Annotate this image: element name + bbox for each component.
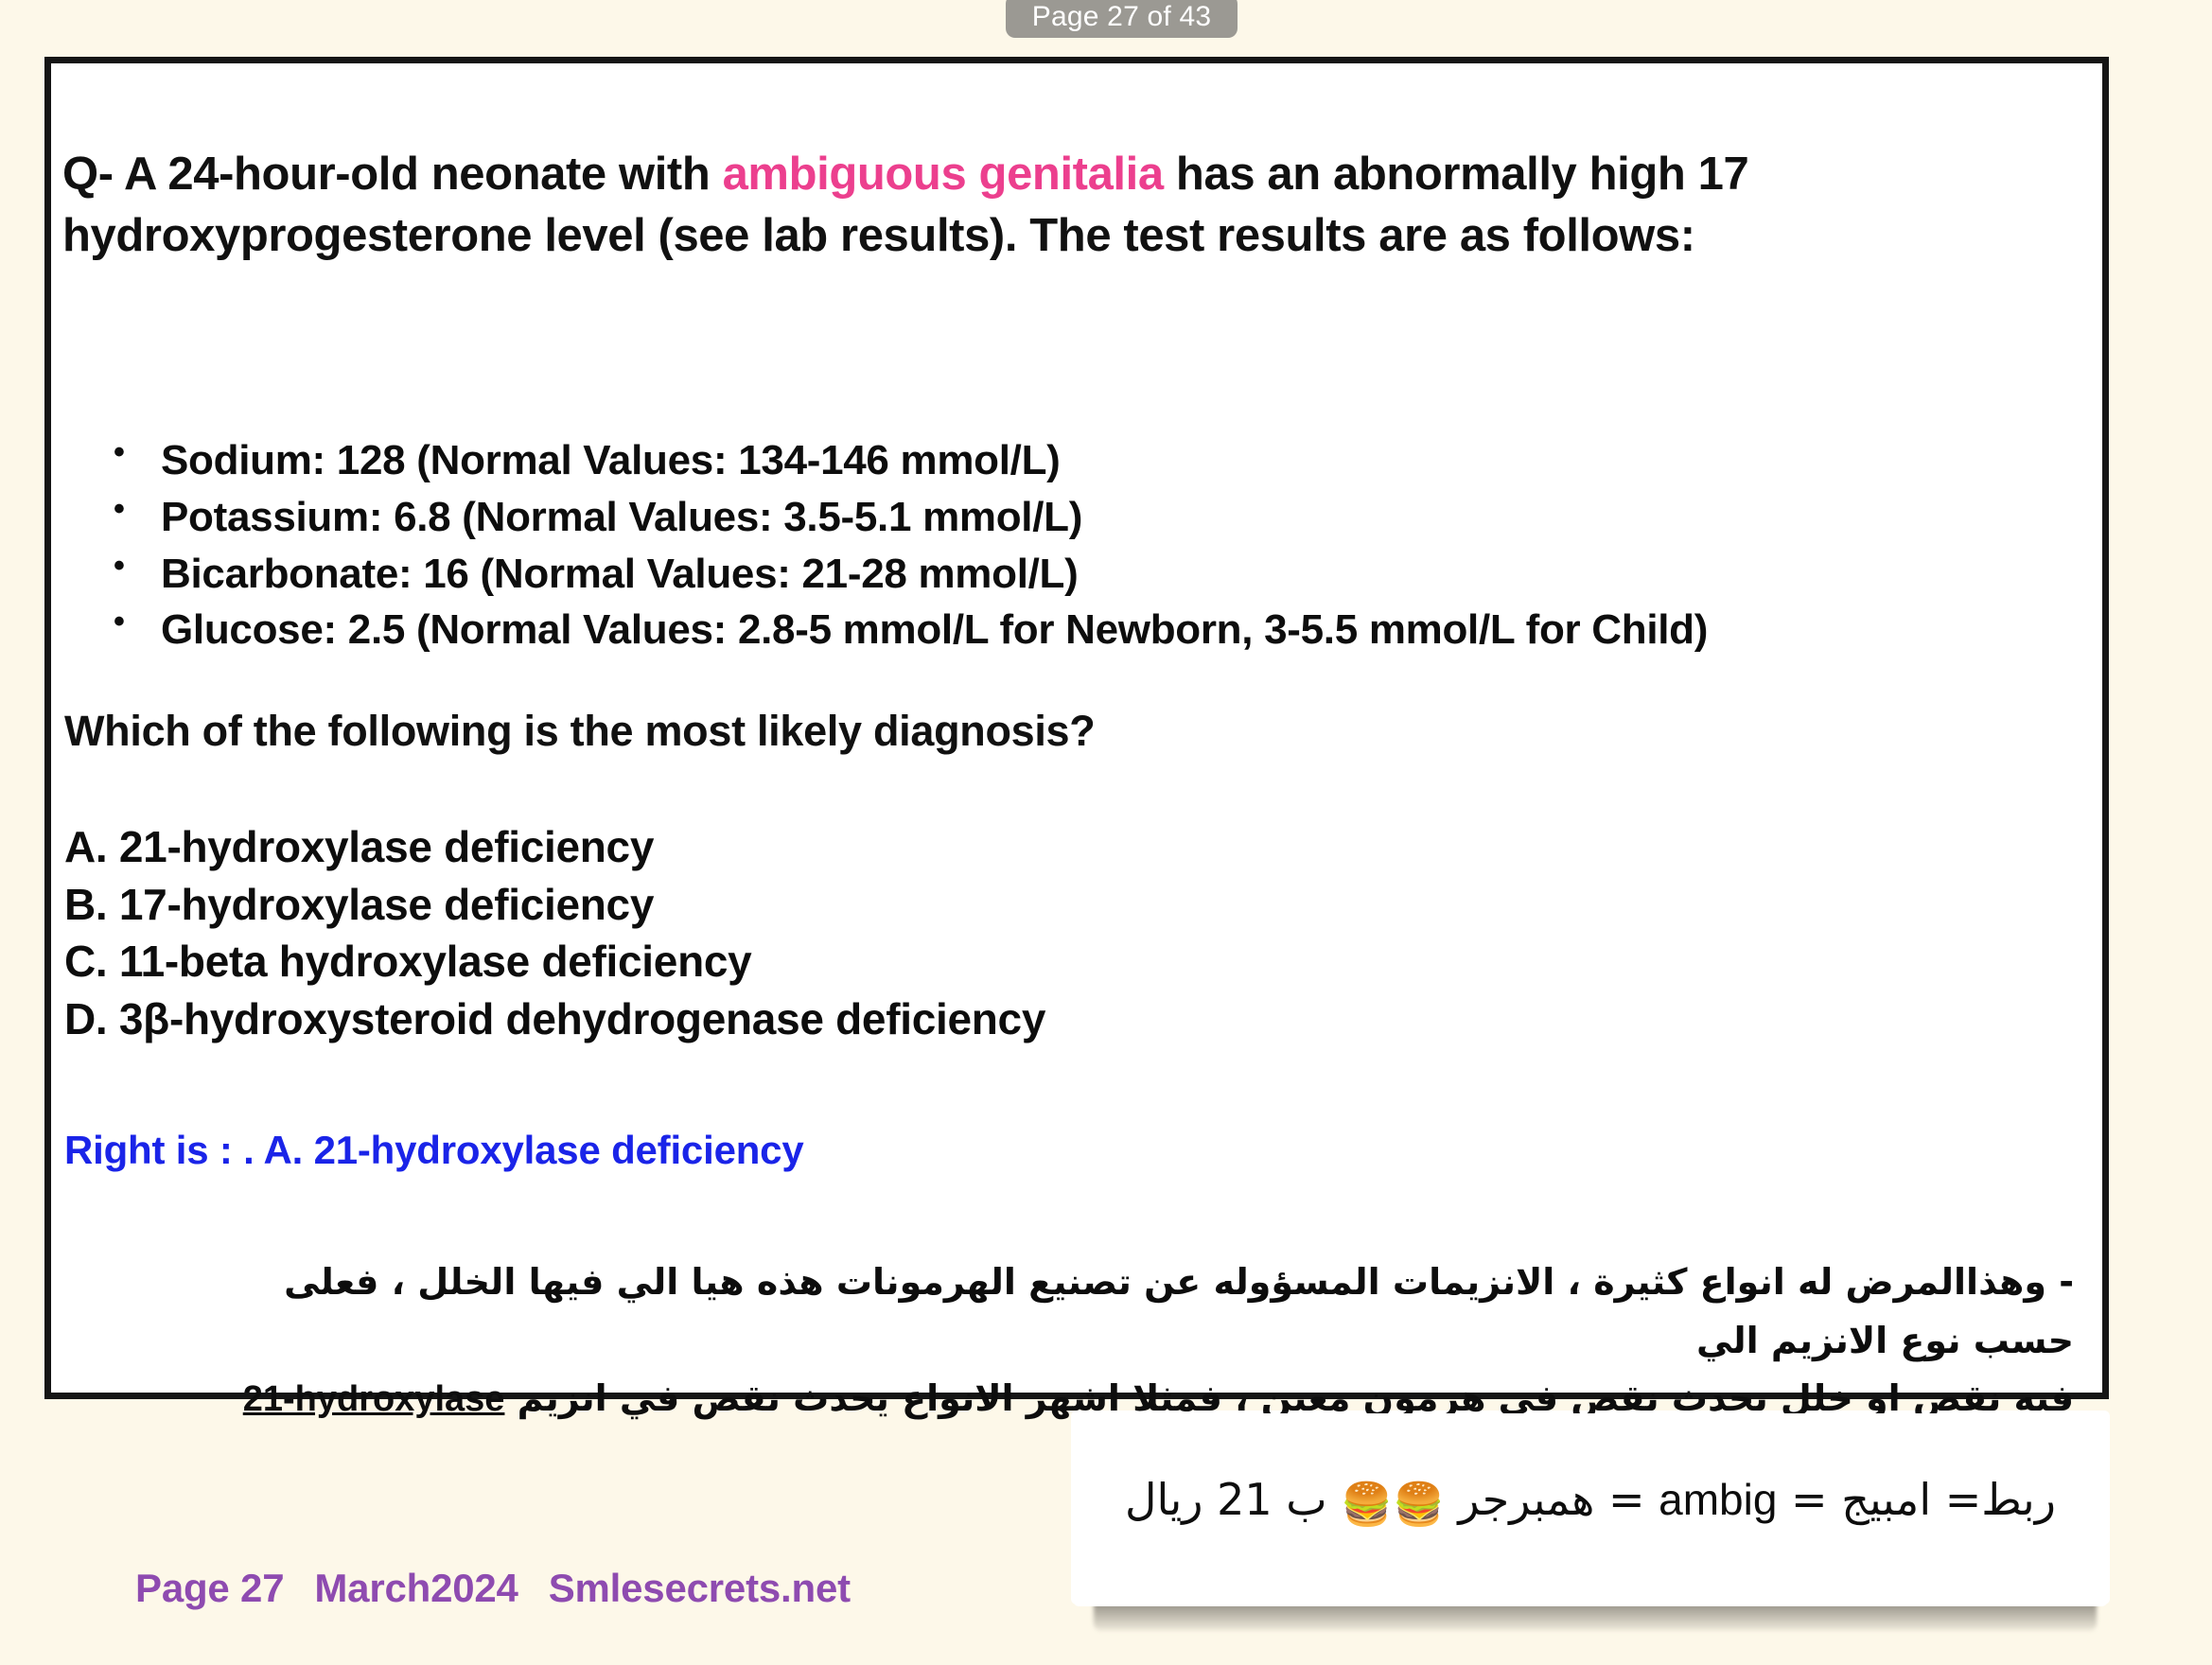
footer-date: March2024 [314,1566,518,1610]
mnemonic-note-card: ربط= امبيج = ambig = همبرجر 🍔🍔 ب 21 ريال [1076,1415,2105,1604]
slide-content-box: Q- A 24-hour-old neonate with ambiguous … [44,57,2109,1399]
lab-value-text: Bicarbonate: 16 (Normal Values: 21-28 mm… [161,551,1078,597]
question-stem: Q- A 24-hour-old neonate with ambiguous … [62,144,2078,266]
slide-inner: Q- A 24-hour-old neonate with ambiguous … [51,63,2102,1393]
lab-value-text: Sodium: 128 (Normal Values: 134-146 mmol… [161,437,1061,483]
option-a[interactable]: A. 21-hydroxylase deficiency [64,818,1957,876]
mnemonic-rtl-before: ربط= امبيج = [1777,1474,2056,1525]
mnemonic-latin-word: ambig [1659,1474,1777,1525]
question-highlight: ambiguous genitalia [723,149,1164,200]
footer: Page 27March2024Smlesecrets.net [135,1566,851,1611]
mnemonic-text: ربط= امبيج = ambig = همبرجر 🍔🍔 ب 21 ريال [1076,1474,2105,1529]
enzyme-name: 21-hydroxylase [243,1371,505,1429]
footer-site[interactable]: Smlesecrets.net [549,1566,851,1610]
list-item: Glucose: 2.5 (Normal Values: 2.8-5 mmol/… [108,602,2066,658]
footer-page-number: Page 27 [135,1566,284,1610]
lab-results-list: Sodium: 128 (Normal Values: 134-146 mmol… [108,432,2066,658]
list-item: Bicarbonate: 16 (Normal Values: 21-28 mm… [108,546,2066,603]
mnemonic-rtl-after: ب 21 ريال [1125,1474,1341,1525]
option-b[interactable]: B. 17-hydroxylase deficiency [64,876,1957,934]
lead-in-question: Which of the following is the most likel… [64,707,1095,756]
lab-value-text: Glucose: 2.5 (Normal Values: 2.8-5 mmol/… [161,606,1708,653]
arabic-line-1: - وهذاالمرض له انواع كثيرة ، الانزيمات ا… [284,1261,2074,1361]
list-item: Sodium: 128 (Normal Values: 134-146 mmol… [108,432,2066,489]
page-indicator: Page 27 of 43 [1006,0,1238,38]
option-c[interactable]: C. 11-beta hydroxylase deficiency [64,933,1957,990]
option-d[interactable]: D. 3β-hydroxysteroid dehydrogenase defic… [64,990,1957,1048]
mnemonic-rtl-mid: = همبرجر [1445,1474,1659,1525]
hamburger-icon: 🍔🍔 [1341,1480,1445,1529]
question-prefix: Q- A 24-hour-old neonate with [62,149,723,200]
list-item: Potassium: 6.8 (Normal Values: 3.5-5.1 m… [108,489,2066,546]
answer-options-list: A. 21-hydroxylase deficiency B. 17-hydro… [64,818,1957,1048]
correct-answer-text: Right is : . A. 21-hydroxylase deficienc… [64,1128,804,1173]
lab-value-text: Potassium: 6.8 (Normal Values: 3.5-5.1 m… [161,494,1082,540]
arabic-line2-pre: فيه نقص او خلل يحدث نقص في هرمون معين ، … [504,1377,2074,1419]
